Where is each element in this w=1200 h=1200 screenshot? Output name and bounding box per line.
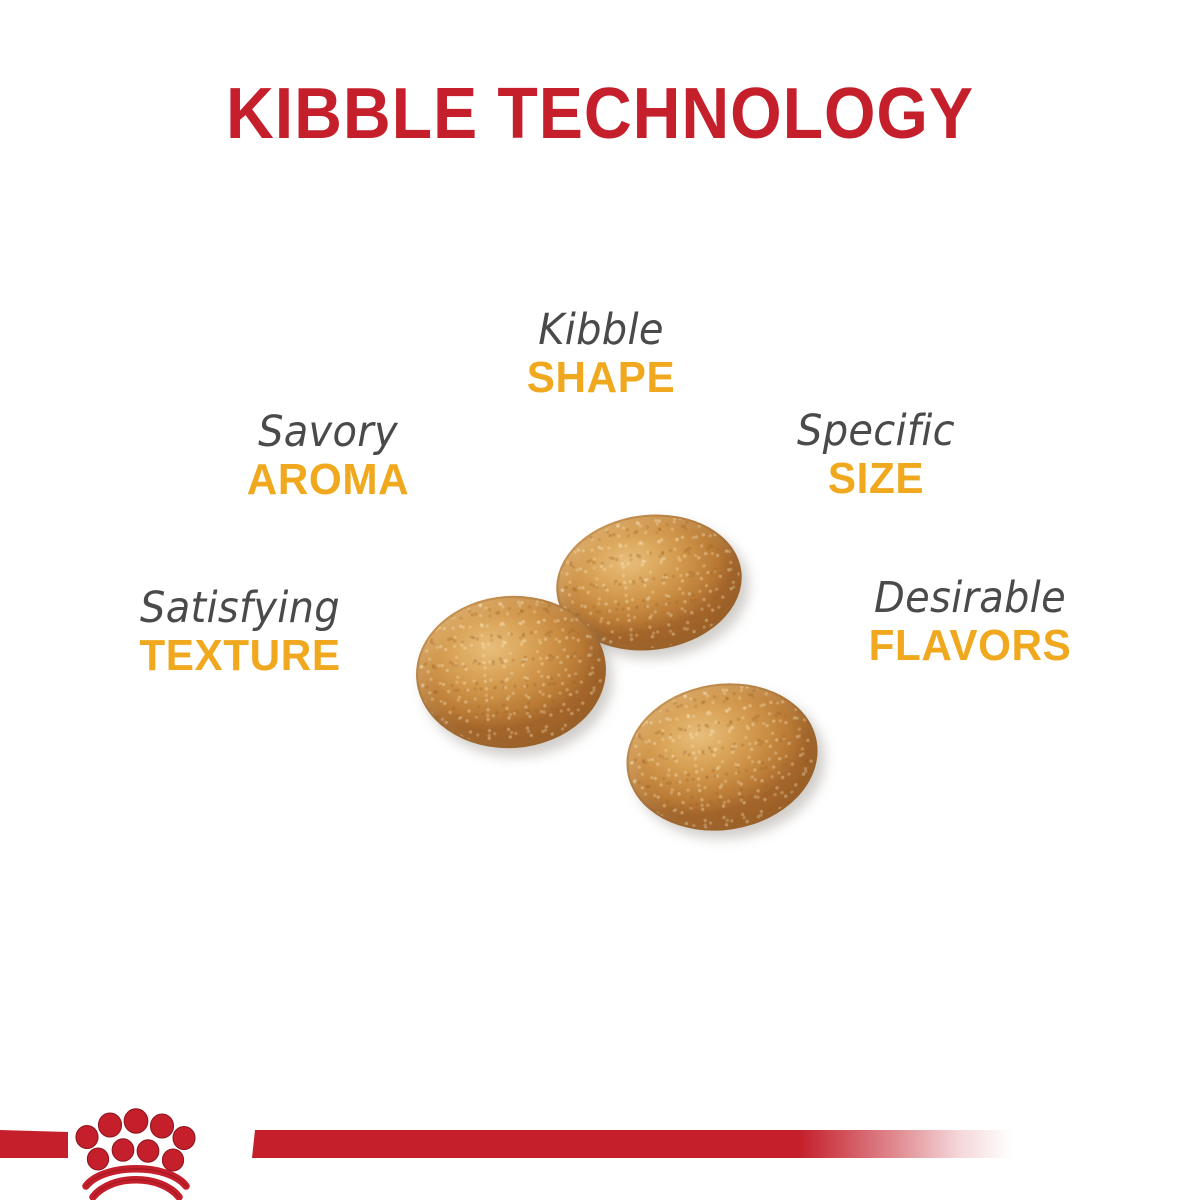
feature-label-texture: Satisfying TEXTURE [60, 586, 420, 679]
kibble-technology-panel: KIBBLE TECHNOLOGY Kibble SHAPE Savory AR… [0, 0, 1200, 1200]
feature-key-aroma: AROMA [155, 457, 501, 502]
brand-band-left [0, 1130, 68, 1158]
brand-band-right [252, 1130, 1012, 1158]
feature-lead-shape: Kibble [434, 308, 769, 352]
kibble-piece-top [548, 504, 749, 661]
feature-lead-flavors: Desirable [803, 576, 1138, 620]
page-title: KIBBLE TECHNOLOGY [48, 78, 1152, 150]
feature-label-aroma: Savory AROMA [148, 410, 508, 503]
feature-key-size: SIZE [703, 456, 1049, 501]
feature-label-flavors: Desirable FLAVORS [790, 576, 1150, 669]
feature-lead-size: Specific [709, 409, 1044, 453]
feature-key-shape: SHAPE [428, 355, 774, 400]
feature-key-flavors: FLAVORS [797, 623, 1143, 668]
feature-label-shape: Kibble SHAPE [421, 308, 781, 401]
royal-canin-crown-icon [74, 1097, 198, 1200]
kibble-piece-bottom [616, 670, 828, 844]
feature-lead-texture: Satisfying [73, 586, 408, 630]
kibble-piece-left [411, 590, 611, 755]
feature-lead-aroma: Savory [161, 410, 496, 454]
feature-key-texture: TEXTURE [67, 633, 413, 678]
feature-label-size: Specific SIZE [696, 409, 1056, 502]
